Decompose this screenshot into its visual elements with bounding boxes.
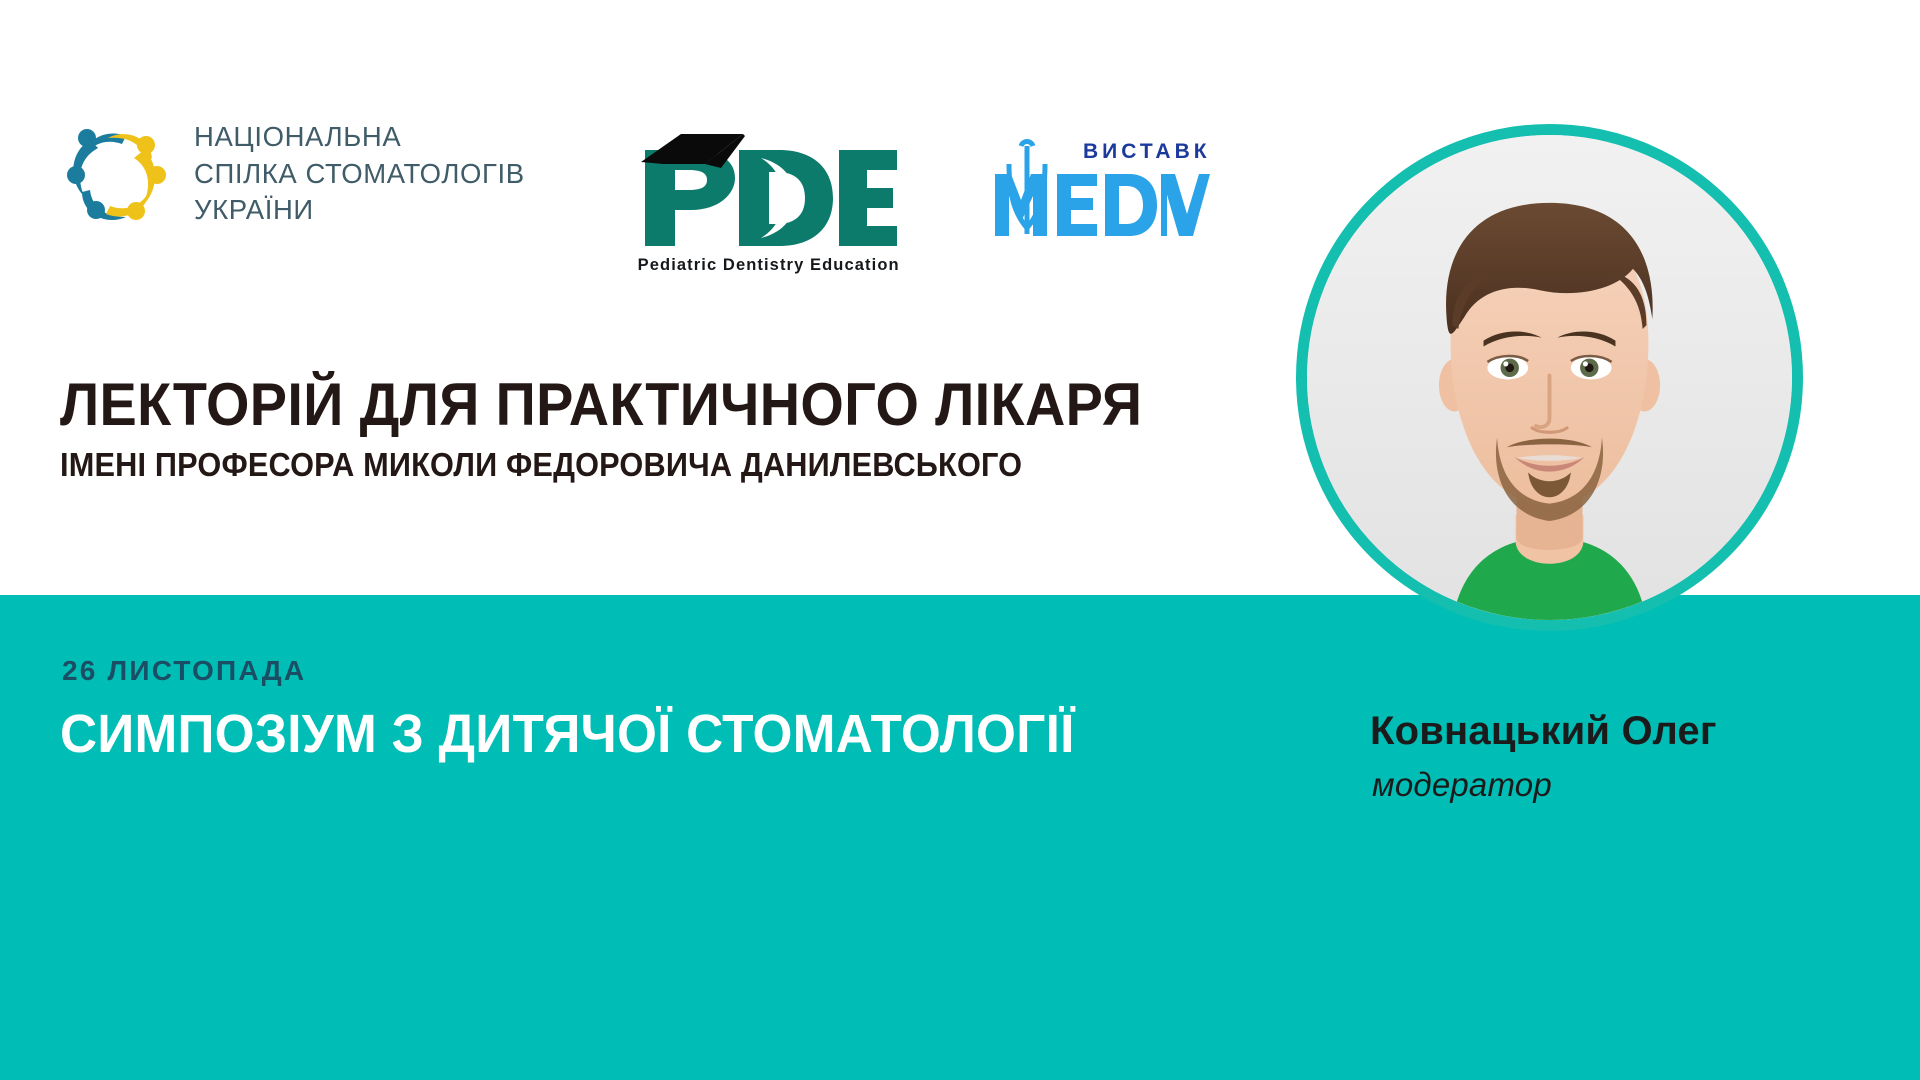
logo-nssu-text: НАЦІОНАЛЬНА СПІЛКА СТОМАТОЛОГІВ УКРАЇНИ	[194, 119, 525, 230]
headline-block: ЛЕКТОРІЙ ДЛЯ ПРАКТИЧНОГО ЛІКАРЯ ІМЕНІ ПР…	[60, 375, 1260, 481]
people-circle-logo-icon	[60, 118, 172, 230]
logo-row: НАЦІОНАЛЬНА СПІЛКА СТОМАТОЛОГІВ УКРАЇНИ	[60, 118, 1210, 275]
event-title: СИМПОЗІУМ З ДИТЯЧОЇ СТОМАТОЛОГІЇ	[60, 707, 1075, 761]
logo-pde-tagline: Pediatric Dentistry Education	[635, 256, 903, 275]
logo-medvin: ВИСТАВКИ	[965, 130, 1210, 240]
page-subtitle: ІМЕНІ ПРОФЕСОРА МИКОЛИ ФЕДОРОВИЧА ДАНИЛЕ…	[60, 448, 1176, 481]
svg-text:ВИСТАВКИ: ВИСТАВКИ	[1083, 140, 1210, 163]
logo-nssu: НАЦІОНАЛЬНА СПІЛКА СТОМАТОЛОГІВ УКРАЇНИ	[60, 118, 525, 230]
pde-graduation-cap-logo-icon	[635, 124, 903, 254]
logo-pde: Pediatric Dentistry Education	[635, 124, 903, 275]
speaker-name: Ковнацький Олег	[1370, 709, 1717, 754]
event-date: 26 ЛИСТОПАДА	[62, 655, 306, 687]
page-title: ЛЕКТОРІЙ ДЛЯ ПРАКТИЧНОГО ЛІКАРЯ	[60, 375, 1176, 435]
speaker-portrait-photo	[1296, 124, 1803, 631]
speaker-role: модератор	[1372, 766, 1552, 804]
medvin-trident-logo-icon: ВИСТАВКИ	[965, 130, 1210, 240]
event-banner: НАЦІОНАЛЬНА СПІЛКА СТОМАТОЛОГІВ УКРАЇНИ	[0, 0, 1920, 1080]
